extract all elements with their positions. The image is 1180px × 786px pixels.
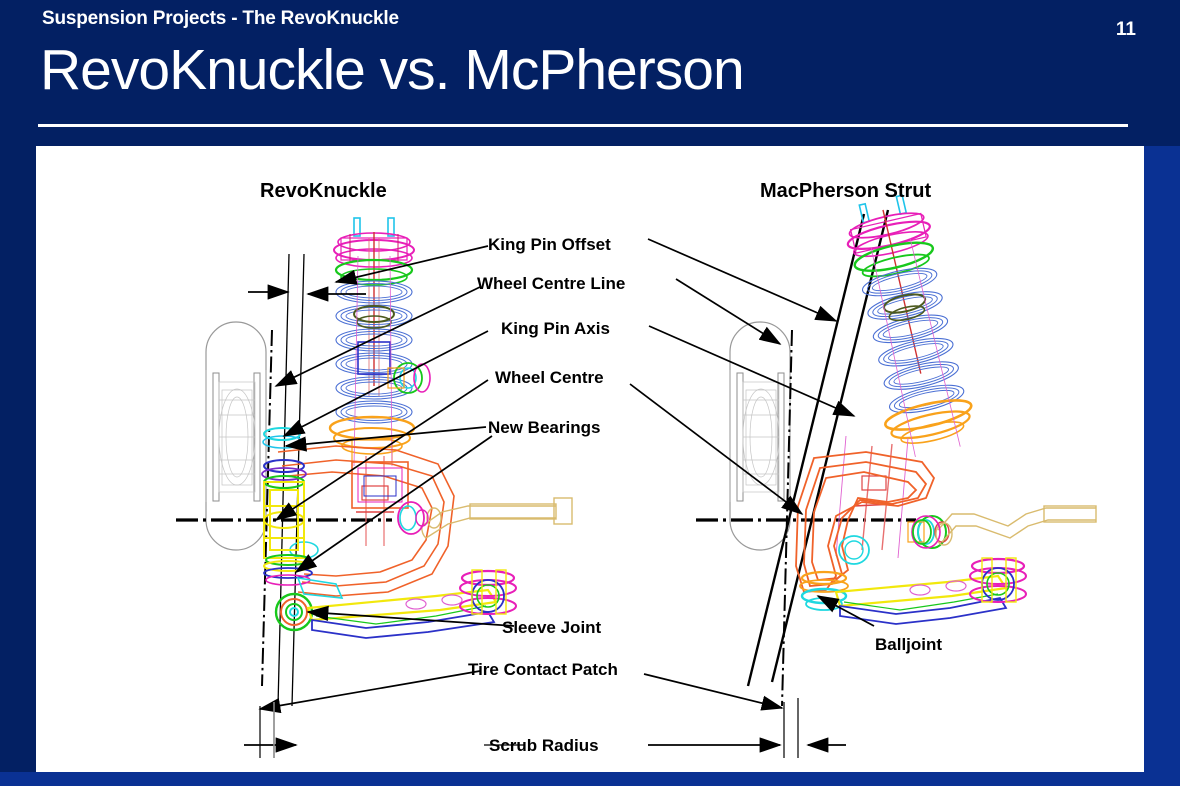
driveshaft-right (936, 506, 1096, 545)
page-number: 11 (1116, 19, 1136, 41)
leader-new-bearings-b (296, 436, 492, 572)
wheel-outline-right (730, 322, 790, 550)
lower-spring-seat-left (330, 417, 414, 462)
label-new-bearings: New Bearings (488, 418, 600, 438)
new-bearings-lower-left (264, 555, 342, 598)
title-rule (38, 124, 1128, 127)
strut-left (330, 218, 430, 546)
leader-new-bearings-a (286, 427, 486, 446)
bearing-cluster-left (388, 363, 430, 393)
lower-spring-seat-right (883, 394, 977, 450)
label-scrub-radius: Scrub Radius (489, 736, 599, 756)
leader-wheel-centre-line-left (276, 287, 480, 386)
leader-king-pin-offset-left (336, 246, 488, 282)
leader-balljoint (818, 596, 874, 626)
dimension-lines (216, 292, 846, 758)
strut-right (836, 191, 980, 462)
label-tire-contact-patch: Tire Contact Patch (468, 660, 618, 680)
slide-root: Suspension Projects - The RevoKnuckle 11… (0, 0, 1180, 786)
leader-king-pin-axis-right (649, 326, 854, 416)
arm-rear-bush-right (970, 558, 1026, 602)
label-wheel-centre: Wheel Centre (495, 368, 604, 388)
heading-revoknuckle: RevoKnuckle (260, 180, 387, 203)
macpherson-assembly (696, 191, 1096, 706)
cv-joint-left (398, 502, 428, 534)
left-frame-band (0, 0, 36, 786)
label-sleeve-joint: Sleeve Joint (502, 618, 601, 638)
label-balljoint: Balljoint (875, 635, 942, 655)
wheel-outline-left (206, 322, 266, 550)
label-wheel-centre-line: Wheel Centre Line (477, 274, 625, 294)
label-king-pin-offset: King Pin Offset (488, 235, 611, 255)
king-pin-axis-line-right (748, 214, 864, 686)
slide-subtitle: Suspension Projects - The RevoKnuckle (42, 8, 399, 30)
lower-control-arm-right (836, 558, 1026, 624)
slide-title: RevoKnuckle vs. McPherson (40, 42, 744, 99)
diagram-canvas: RevoKnuckle MacPherson Strut King Pin Of… (36, 146, 1144, 772)
bottom-frame-band (0, 772, 1180, 786)
heading-macpherson-strut: MacPherson Strut (760, 180, 931, 203)
leader-tire-contact-patch-right (644, 674, 782, 708)
label-king-pin-axis: King Pin Axis (501, 319, 610, 339)
leader-wheel-centre-line-right (676, 279, 780, 344)
lower-control-arm-left (308, 570, 516, 638)
